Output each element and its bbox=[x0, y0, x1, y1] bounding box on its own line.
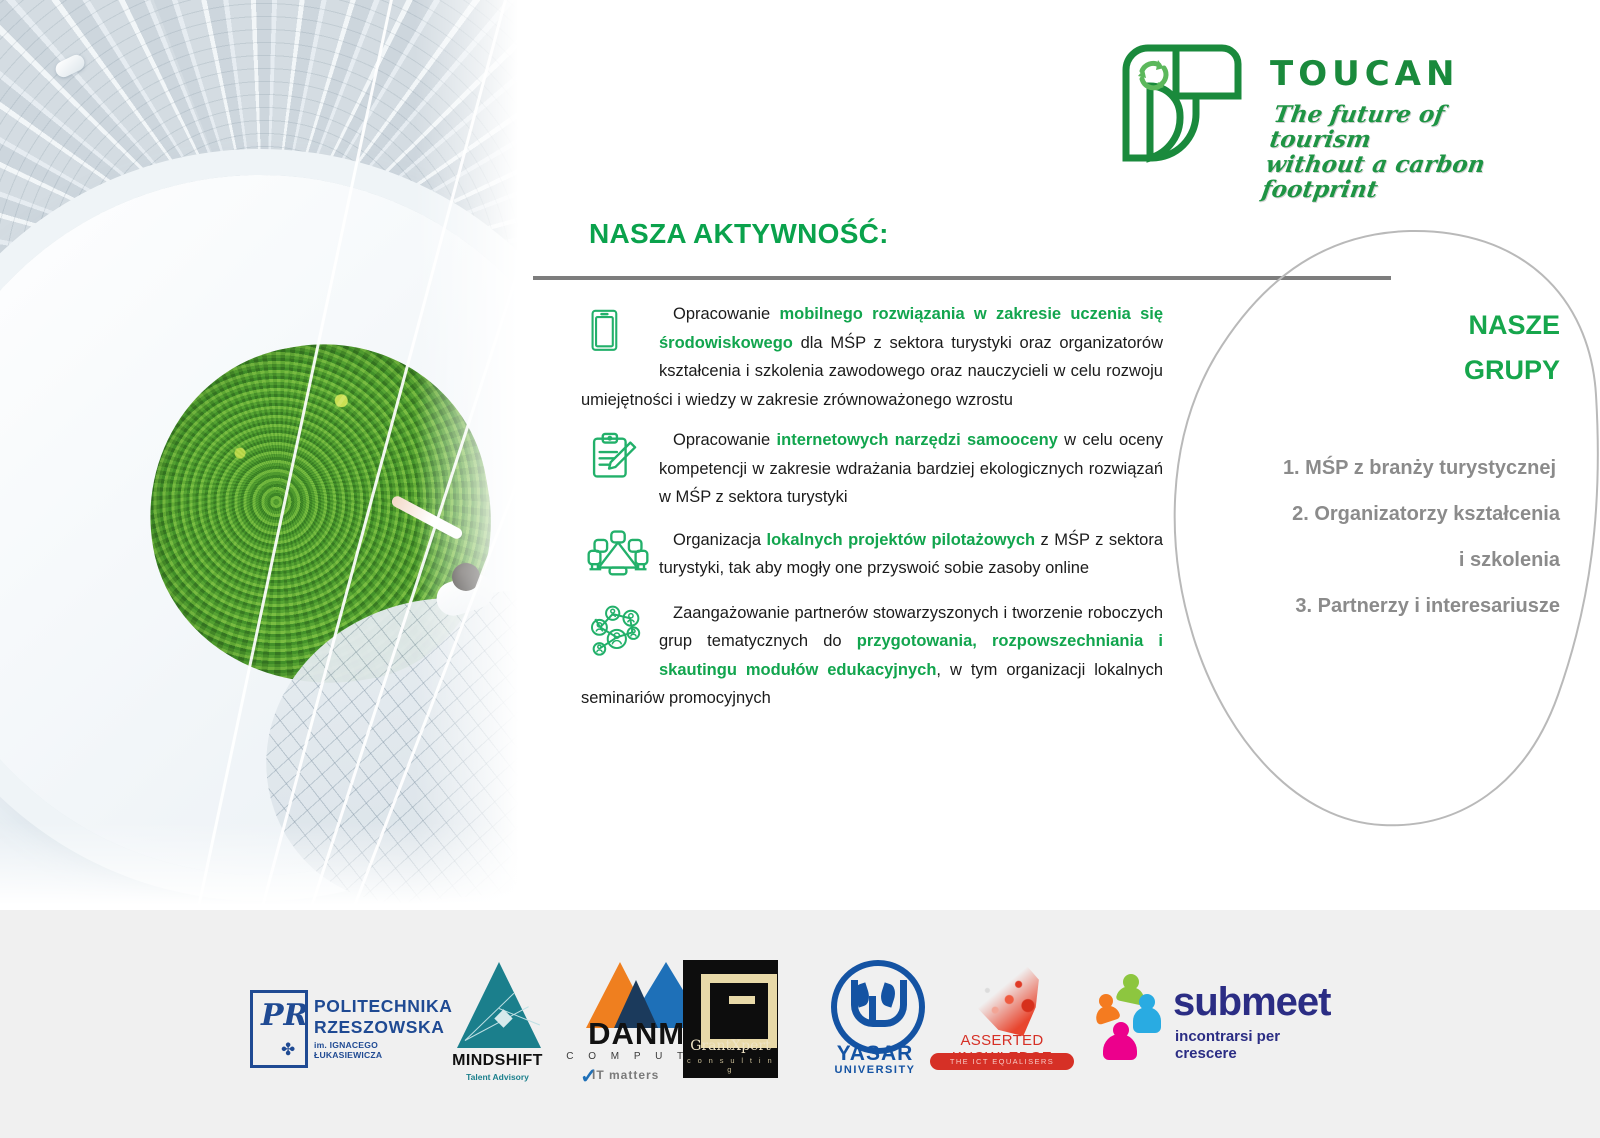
page-title: NASZA AKTYWNOŚĆ: bbox=[589, 218, 889, 250]
asserted-knowledge-subtitle: THE ICT EQUALISERS bbox=[930, 1053, 1074, 1070]
partner-logo-politechnika-rzeszowska: PR ✤ POLITECHNIKA RZESZOWSKA im. IGNACEG… bbox=[250, 990, 430, 1070]
groups-list-item-2-line2: i szkolenia bbox=[1190, 537, 1560, 583]
groups-title-line2: GRUPY bbox=[1464, 355, 1560, 385]
grantxpert-subtitle: c o n s u l t i n g bbox=[683, 1056, 778, 1074]
politechnika-name-line2: RZESZOWSKA bbox=[314, 1017, 444, 1037]
groups-title: NASZE GRUPY bbox=[1240, 303, 1560, 393]
yasar-stem-icon bbox=[869, 996, 876, 1026]
star-icon: ✤ bbox=[281, 1041, 295, 1058]
groups-list-item-1: 1. MŚP z branży turystycznej bbox=[1190, 445, 1560, 491]
groups-list-item-2-line1: 2. Organizatorzy kształcenia bbox=[1190, 491, 1560, 537]
partner-logo-submeet: submeet incontrarsi per crescere bbox=[1095, 974, 1325, 1074]
meeting-table-icon bbox=[587, 526, 653, 588]
partner-logo-mindshift: MINDSHIFT Talent Advisory bbox=[435, 962, 560, 1082]
partner-logo-grantxpert: GrantXpert c o n s u l t i n g bbox=[683, 960, 778, 1078]
asserted-knowledge-face-icon bbox=[964, 960, 1042, 1036]
grantxpert-name: GrantXpert bbox=[683, 1038, 778, 1054]
activity-text: Opracowanie internetowych narzędzi samoo… bbox=[581, 426, 1163, 512]
politechnika-subtitle: im. IGNACEGO ŁUKASIEWICZA bbox=[314, 1040, 430, 1060]
politechnika-name: POLITECHNIKA RZESZOWSKA bbox=[314, 996, 452, 1038]
activity-block: Opracowanie internetowych narzędzi samoo… bbox=[581, 426, 1163, 512]
clipboard-pencil-icon bbox=[587, 426, 653, 488]
hero-photo-spiral-staircase-garden bbox=[0, 0, 535, 912]
politechnika-emblem-letters: PR bbox=[261, 1001, 309, 1031]
submeet-name: submeet bbox=[1173, 980, 1331, 1025]
groups-list: 1. MŚP z branży turystycznej 2. Organiza… bbox=[1190, 445, 1560, 629]
partner-logos-footer: PR ✤ POLITECHNIKA RZESZOWSKA im. IGNACEG… bbox=[0, 910, 1600, 1138]
people-network-icon bbox=[587, 599, 653, 661]
logo-tagline-line1: The future of tourism bbox=[1268, 101, 1447, 153]
activity-block: Organizacja lokalnych projektów pilotażo… bbox=[581, 526, 1163, 583]
photo-edge-fade-right bbox=[415, 0, 535, 912]
toucan-logo: TOUCAN The future of tourism without a c… bbox=[1118, 40, 1538, 175]
politechnika-emblem-icon: PR ✤ bbox=[250, 990, 308, 1068]
logo-wordmark: TOUCAN bbox=[1270, 54, 1459, 94]
photo-edge-fade-bottom bbox=[0, 822, 535, 912]
mindshift-name: MINDSHIFT bbox=[435, 1052, 560, 1070]
submeet-figure-blue-body bbox=[1133, 1007, 1161, 1033]
activity-highlight: lokalnych projektów pilotażowych bbox=[767, 531, 1036, 549]
logo-tagline: The future of tourism without a carbon f… bbox=[1260, 102, 1546, 202]
submeet-figure-pink-body bbox=[1103, 1034, 1137, 1060]
smartphone-icon bbox=[587, 300, 653, 362]
activity-text: Opracowanie mobilnego rozwiązania w zakr… bbox=[581, 300, 1163, 414]
activity-block: Opracowanie mobilnego rozwiązania w zakr… bbox=[581, 300, 1163, 414]
activity-highlight: internetowych narzędzi samooceny bbox=[777, 431, 1058, 449]
logo-tagline-line2: without a carbon footprint bbox=[1260, 151, 1487, 203]
politechnika-name-line1: POLITECHNIKA bbox=[314, 996, 452, 1016]
partner-logos-row: PR ✤ POLITECHNIKA RZESZOWSKA im. IGNACEG… bbox=[240, 932, 1360, 1122]
activity-block: Zaangażowanie partnerów stowarzyszonych … bbox=[581, 599, 1163, 713]
grantxpert-g-bar bbox=[729, 996, 755, 1004]
activity-text: Organizacja lokalnych projektów pilotażo… bbox=[581, 526, 1163, 583]
mindshift-subtitle: Talent Advisory bbox=[435, 1072, 560, 1082]
submeet-subtitle: incontrarsi per crescere bbox=[1175, 1028, 1325, 1062]
groups-list-item-3: 3. Partnerzy i interesariusze bbox=[1190, 583, 1560, 629]
toucan-bird-icon bbox=[1118, 40, 1258, 165]
activity-blocks: Opracowanie mobilnego rozwiązania w zakr… bbox=[581, 300, 1163, 731]
partner-logo-asserted-knowledge: ASSERTED KNOWLEDGE THE ICT EQUALISERS bbox=[912, 958, 1092, 1078]
activity-text: Zaangażowanie partnerów stowarzyszonych … bbox=[581, 599, 1163, 713]
yasar-cup-icon bbox=[851, 980, 907, 1027]
groups-title-line1: NASZE bbox=[1468, 310, 1560, 340]
